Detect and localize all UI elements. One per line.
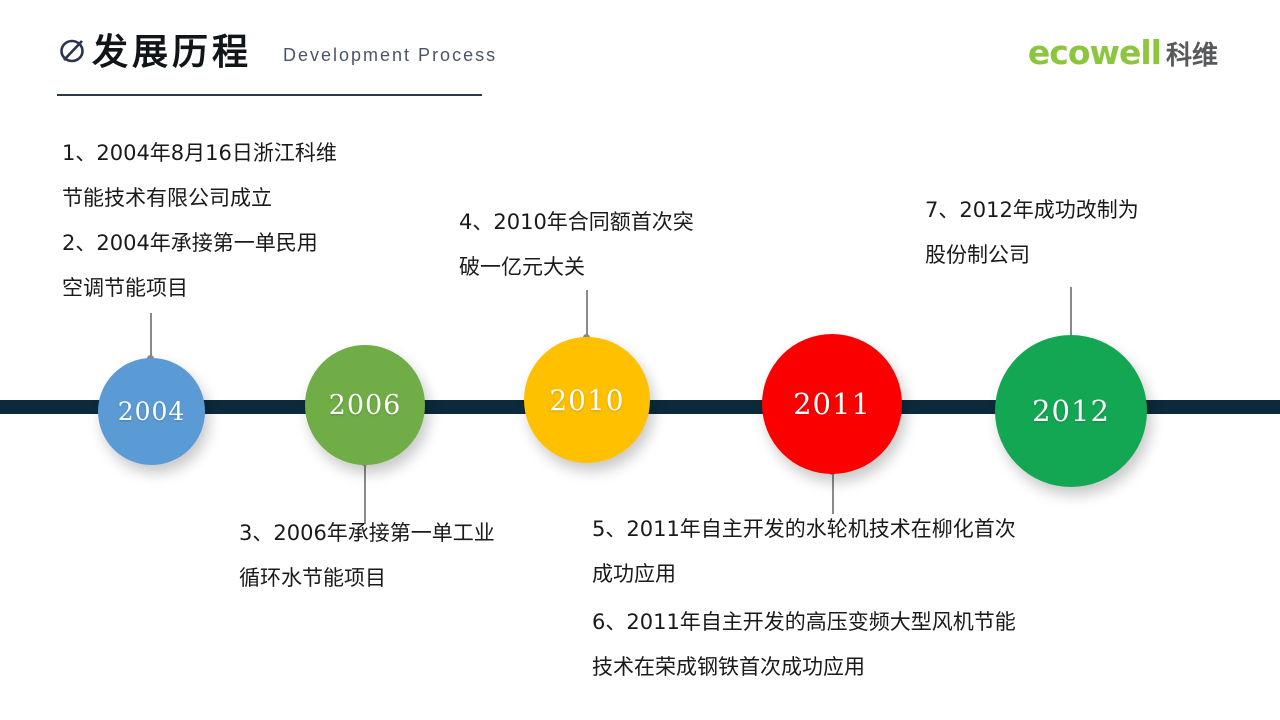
timeline-node-label: 2004 <box>118 397 186 426</box>
timeline-node-2006[interactable]: 2006 <box>305 345 425 465</box>
brand-logo: ecowell 科维 <box>1028 36 1218 70</box>
milestone-item-1: 1、2004年8月16日浙江科维 节能技术有限公司成立 <box>62 131 442 221</box>
milestone-item-5: 5、2011年自主开发的水轮机技术在柳化首次 成功应用 <box>592 507 1192 597</box>
header-divider <box>57 94 482 96</box>
milestone-item-3: 3、2006年承接第一单工业 循环水节能项目 <box>239 511 589 601</box>
timeline-node-label: 2006 <box>329 390 402 421</box>
logo-wordmark: ecowell <box>1028 36 1161 70</box>
milestone-item-7: 7、2012年成功改制为 股份制公司 <box>925 188 1225 278</box>
connector-line-item1 <box>150 313 152 361</box>
milestone-item-4: 4、2010年合同额首次突 破一亿元大关 <box>459 200 789 290</box>
slide-canvas: 发展历程 Development Process ecowell 科维 2004… <box>0 0 1280 720</box>
timeline-node-label: 2012 <box>1032 394 1110 428</box>
logo-chinese-name: 科维 <box>1166 39 1218 73</box>
timeline-node-2004[interactable]: 2004 <box>98 358 205 465</box>
page-title: 发展历程 <box>92 32 252 74</box>
timeline-node-label: 2011 <box>793 387 871 421</box>
milestone-item-2: 2、2004年承接第一单民用 空调节能项目 <box>62 221 442 311</box>
connector-line-item4 <box>586 290 588 340</box>
milestone-item-6: 6、2011年自主开发的高压变频大型风机节能 技术在荣成钢铁首次成功应用 <box>592 600 1192 690</box>
timeline-node-2011[interactable]: 2011 <box>762 334 902 474</box>
timeline-node-label: 2010 <box>549 384 624 417</box>
slashed-circle-icon <box>58 36 88 66</box>
timeline-node-2010[interactable]: 2010 <box>524 337 650 463</box>
timeline-node-2012[interactable]: 2012 <box>995 335 1147 487</box>
page-subtitle: Development Process <box>283 45 497 66</box>
